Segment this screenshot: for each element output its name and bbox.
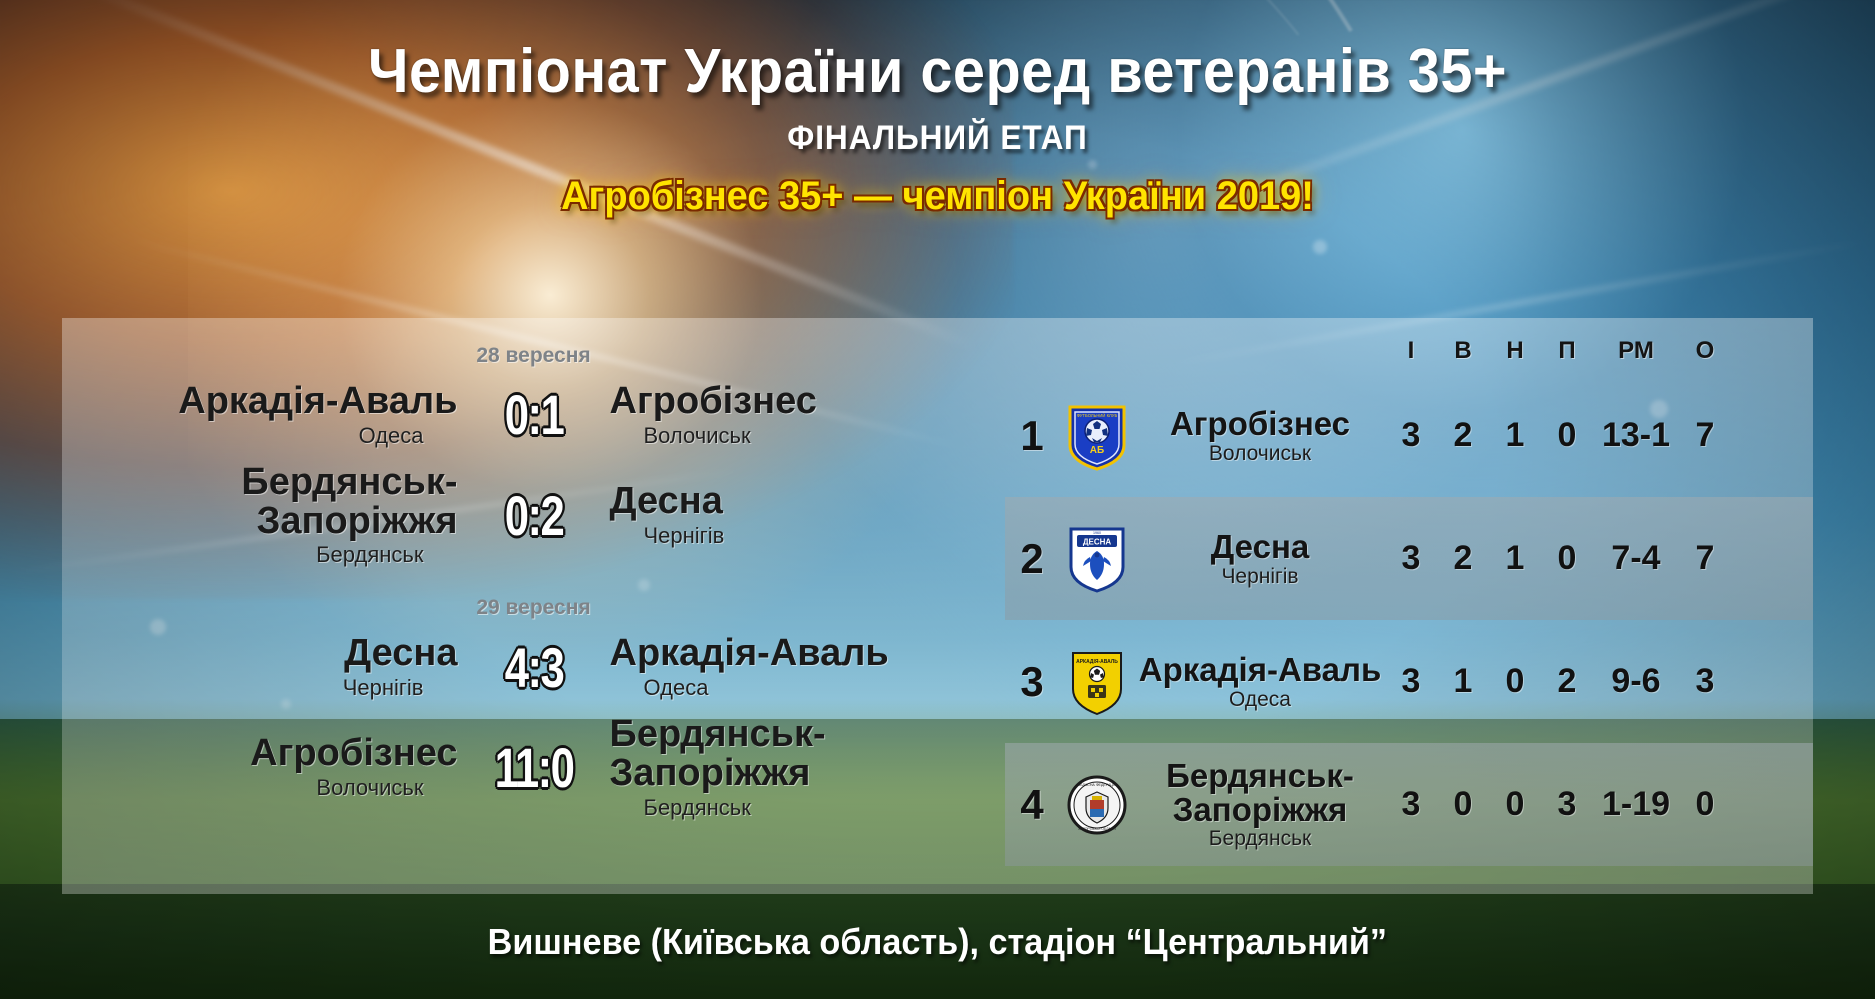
team-city: Волочиськ — [83, 775, 458, 801]
standings-club: Десна Чернігів — [1135, 530, 1385, 587]
team-name: Агробізнес — [83, 734, 458, 773]
svg-text:АРКАДІЯ-АВАЛЬ: АРКАДІЯ-АВАЛЬ — [1076, 659, 1118, 665]
team-name: Десна — [83, 634, 458, 673]
cell-losses: 2 — [1541, 662, 1593, 701]
svg-text:1960: 1960 — [1093, 531, 1101, 535]
standings-header-row: І В Н П РМ О — [1005, 318, 1813, 374]
fixtures-list: 28 вересня Аркадія-Аваль Одеса 0:1 Агроб… — [62, 318, 1005, 894]
svg-text:ОБЛАСНА ФЕДЕРАЦІЯ: ОБЛАСНА ФЕДЕРАЦІЯ — [1077, 783, 1117, 787]
club-city: Одеса — [1135, 689, 1385, 710]
cell-points: 0 — [1679, 785, 1731, 824]
team-name: Аркадія-Аваль — [83, 382, 458, 421]
club-name: Десна — [1135, 530, 1385, 564]
team-name: Аркадія-Аваль — [610, 634, 985, 673]
match-home-team: Агробізнес Волочиськ — [83, 734, 474, 801]
match-away-team: Аркадія-Аваль Одеса — [594, 634, 985, 701]
match-row: Десна Чернігів 4:3 Аркадія-Аваль Одеса — [62, 634, 1005, 701]
standings-position: 2 — [1005, 535, 1059, 583]
svg-text:АБ: АБ — [1090, 445, 1104, 456]
cell-points: 7 — [1679, 416, 1731, 455]
team-city: Бердянськ — [83, 542, 458, 568]
poster-headings: Чемпіонат України серед ветеранів 35+ ФІ… — [0, 0, 1875, 219]
match-away-team: Бердянськ-Запоріжжя Бердянськ — [594, 715, 985, 821]
cell-wins: 2 — [1437, 539, 1489, 578]
page-title: Чемпіонат України серед ветеранів 35+ — [66, 0, 1810, 107]
cell-goal-ratio: 9-6 — [1593, 662, 1679, 701]
arkadiya-aval-crest-icon: АРКАДІЯ-АВАЛЬ — [1059, 647, 1135, 717]
svg-text:ФУТБОЛЬНИЙ КЛУБ: ФУТБОЛЬНИЙ КЛУБ — [1077, 413, 1118, 418]
club-city: Волочиськ — [1135, 443, 1385, 464]
team-name: Агробізнес — [610, 382, 985, 421]
cell-goal-ratio: 13-1 — [1593, 416, 1679, 455]
table-row: 3 АРКАДІЯ-АВАЛЬ — [1005, 620, 1813, 743]
standings-position: 3 — [1005, 658, 1059, 706]
fixtures-date-label: 29 вересня — [62, 596, 1005, 620]
match-away-team: Десна Чернігів — [594, 482, 985, 549]
venue-footer: Вишневе (Київська область), стадіон “Цен… — [0, 884, 1875, 999]
cell-draws: 0 — [1489, 785, 1541, 824]
team-city: Одеса — [83, 423, 458, 449]
column-header-losses: П — [1541, 337, 1593, 365]
cell-games: 3 — [1385, 539, 1437, 578]
cell-wins: 0 — [1437, 785, 1489, 824]
cell-wins: 2 — [1437, 416, 1489, 455]
club-name: Аркадія-Аваль — [1135, 653, 1385, 687]
team-city: Одеса — [610, 675, 985, 701]
standings-club: Агробізнес Волочиськ — [1135, 407, 1385, 464]
team-city: Чернігів — [610, 523, 985, 549]
match-score: 4:3 — [487, 640, 581, 696]
agrobiznes-crest-icon: АБ ФУТБОЛЬНИЙ КЛУБ — [1059, 401, 1135, 471]
standings-table: І В Н П РМ О 1 АБ Ф — [1005, 318, 1813, 894]
cell-losses: 0 — [1541, 416, 1593, 455]
match-row: Агробізнес Волочиськ 11:0 Бердянськ-Запо… — [62, 715, 1005, 821]
table-row: 4 ОБЛАСНА ФЕДЕРАЦІЯ ЗАПОРІЗЬКОЇ ОБЛАСТІ — [1005, 743, 1813, 866]
venue-text: Вишневе (Київська область), стадіон “Цен… — [488, 921, 1387, 963]
stage-subtitle: ФІНАЛЬНИЙ ЕТАП — [66, 119, 1810, 158]
club-name: Агробізнес — [1135, 407, 1385, 441]
svg-text:ДЕСНА: ДЕСНА — [1083, 537, 1112, 546]
match-home-team: Десна Чернігів — [83, 634, 474, 701]
match-score: 0:2 — [487, 488, 581, 544]
match-home-team: Бердянськ-Запоріжжя Бердянськ — [83, 463, 474, 569]
fixtures-date-label: 28 вересня — [62, 344, 1005, 368]
club-city: Чернігів — [1135, 566, 1385, 587]
table-row: 2 ДЕСНА 1960 Десна Чернігів — [1005, 497, 1813, 620]
cell-goal-ratio: 1-19 — [1593, 785, 1679, 824]
standings-club: Бердянськ-Запоріжжя Бердянськ — [1135, 759, 1385, 850]
team-name: Бердянськ-Запоріжжя — [610, 715, 985, 793]
cell-goal-ratio: 7-4 — [1593, 539, 1679, 578]
standings-position: 4 — [1005, 781, 1059, 829]
cell-points: 3 — [1679, 662, 1731, 701]
berdyansk-zaporizhzhya-crest-icon: ОБЛАСНА ФЕДЕРАЦІЯ ЗАПОРІЗЬКОЇ ОБЛАСТІ — [1059, 770, 1135, 840]
cell-games: 3 — [1385, 785, 1437, 824]
match-score: 0:1 — [487, 387, 581, 443]
match-row: Бердянськ-Запоріжжя Бердянськ 0:2 Десна … — [62, 463, 1005, 569]
tournament-poster: Чемпіонат України серед ветеранів 35+ ФІ… — [0, 0, 1875, 999]
team-city: Чернігів — [83, 675, 458, 701]
cell-games: 3 — [1385, 416, 1437, 455]
cell-losses: 0 — [1541, 539, 1593, 578]
team-city: Волочиськ — [610, 423, 985, 449]
team-city: Бердянськ — [610, 795, 985, 821]
match-score: 11:0 — [487, 740, 581, 796]
standings-club: Аркадія-Аваль Одеса — [1135, 653, 1385, 710]
club-city: Бердянськ — [1135, 828, 1385, 849]
cell-games: 3 — [1385, 662, 1437, 701]
column-header-goal-ratio: РМ — [1593, 337, 1679, 365]
table-row: 1 АБ ФУТБОЛЬНИЙ КЛУБ Агробізн — [1005, 374, 1813, 497]
cell-draws: 1 — [1489, 539, 1541, 578]
column-header-wins: В — [1437, 337, 1489, 365]
svg-text:ЗАПОРІЗЬКОЇ ОБЛАСТІ: ЗАПОРІЗЬКОЇ ОБЛАСТІ — [1078, 827, 1116, 831]
match-home-team: Аркадія-Аваль Одеса — [83, 382, 474, 449]
desna-crest-icon: ДЕСНА 1960 — [1059, 524, 1135, 594]
cell-draws: 1 — [1489, 416, 1541, 455]
team-name: Десна — [610, 482, 985, 521]
match-row: Аркадія-Аваль Одеса 0:1 Агробізнес Волоч… — [62, 382, 1005, 449]
cell-points: 7 — [1679, 539, 1731, 578]
cell-draws: 0 — [1489, 662, 1541, 701]
cell-wins: 1 — [1437, 662, 1489, 701]
standings-position: 1 — [1005, 412, 1059, 460]
cell-losses: 3 — [1541, 785, 1593, 824]
team-name: Бердянськ-Запоріжжя — [83, 463, 458, 541]
column-header-points: О — [1679, 337, 1731, 365]
match-away-team: Агробізнес Волочиськ — [594, 382, 985, 449]
column-header-draws: Н — [1489, 337, 1541, 365]
champion-banner: Агробізнес 35+ — чемпіон України 2019! — [47, 174, 1828, 219]
club-name: Бердянськ-Запоріжжя — [1135, 759, 1385, 826]
column-header-games: І — [1385, 337, 1437, 365]
